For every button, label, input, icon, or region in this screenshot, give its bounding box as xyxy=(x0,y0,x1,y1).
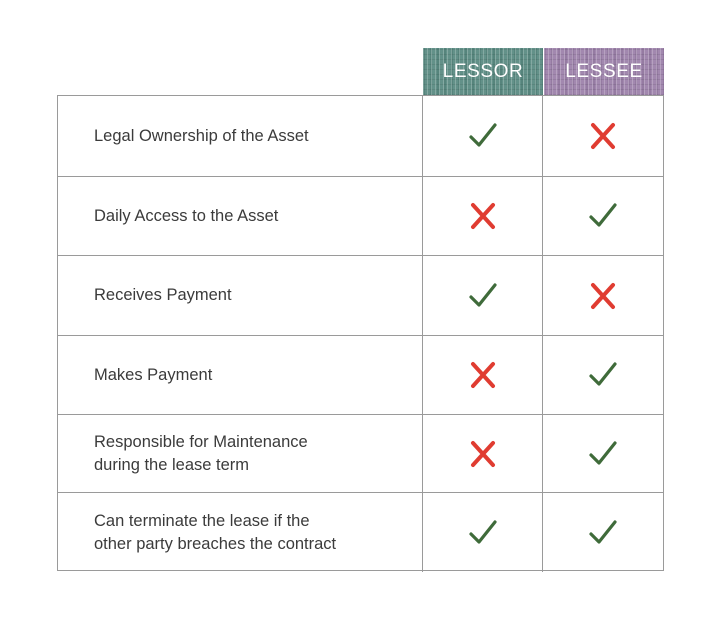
column-header-lessee-label: LESSEE xyxy=(565,61,643,83)
check-icon xyxy=(466,279,500,313)
row-criterion-cell: Makes Payment xyxy=(58,336,423,414)
table-row: Legal Ownership of the Asset xyxy=(58,96,663,177)
row-criterion-label: Receives Payment xyxy=(94,284,232,306)
check-icon xyxy=(586,437,620,471)
row-criterion-label: Daily Access to the Asset xyxy=(94,205,278,227)
cross-icon xyxy=(586,279,620,313)
cross-icon xyxy=(466,437,500,471)
row-lessee-cell xyxy=(543,415,663,492)
row-lessee-cell xyxy=(543,177,663,255)
cross-icon xyxy=(586,119,620,153)
column-header-lessee: LESSEE xyxy=(544,48,664,95)
lessor-lessee-comparison-table: LESSOR LESSEE Legal Ownership of the Ass… xyxy=(57,48,664,571)
row-lessor-cell xyxy=(423,177,543,255)
table-row: Makes Payment xyxy=(58,336,663,415)
check-icon xyxy=(586,516,620,550)
row-criterion-cell: Responsible for Maintenanceduring the le… xyxy=(58,415,423,492)
row-criterion-label: Responsible for Maintenanceduring the le… xyxy=(94,431,308,476)
row-criterion-cell: Legal Ownership of the Asset xyxy=(58,96,423,176)
row-lessor-cell xyxy=(423,336,543,414)
table-header-row: LESSOR LESSEE xyxy=(57,48,664,95)
row-lessee-cell xyxy=(543,336,663,414)
cross-icon xyxy=(466,199,500,233)
row-criterion-label: Can terminate the lease if theother part… xyxy=(94,510,336,555)
table-row: Can terminate the lease if theother part… xyxy=(58,493,663,572)
row-lessee-cell xyxy=(543,493,663,572)
check-icon xyxy=(466,119,500,153)
table-row: Receives Payment xyxy=(58,256,663,336)
column-header-lessor-label: LESSOR xyxy=(443,61,524,83)
row-lessee-cell xyxy=(543,256,663,335)
table-body: Legal Ownership of the AssetDaily Access… xyxy=(57,95,664,571)
row-lessor-cell xyxy=(423,256,543,335)
cross-icon xyxy=(466,358,500,392)
row-criterion-cell: Receives Payment xyxy=(58,256,423,335)
column-header-lessor: LESSOR xyxy=(423,48,543,95)
check-icon xyxy=(466,516,500,550)
row-criterion-label: Makes Payment xyxy=(94,364,212,386)
row-criterion-cell: Daily Access to the Asset xyxy=(58,177,423,255)
check-icon xyxy=(586,358,620,392)
row-lessee-cell xyxy=(543,96,663,176)
row-criterion-label: Legal Ownership of the Asset xyxy=(94,125,309,147)
check-icon xyxy=(586,199,620,233)
row-criterion-cell: Can terminate the lease if theother part… xyxy=(58,493,423,572)
table-row: Daily Access to the Asset xyxy=(58,177,663,256)
table-row: Responsible for Maintenanceduring the le… xyxy=(58,415,663,493)
row-lessor-cell xyxy=(423,96,543,176)
row-lessor-cell xyxy=(423,415,543,492)
row-lessor-cell xyxy=(423,493,543,572)
